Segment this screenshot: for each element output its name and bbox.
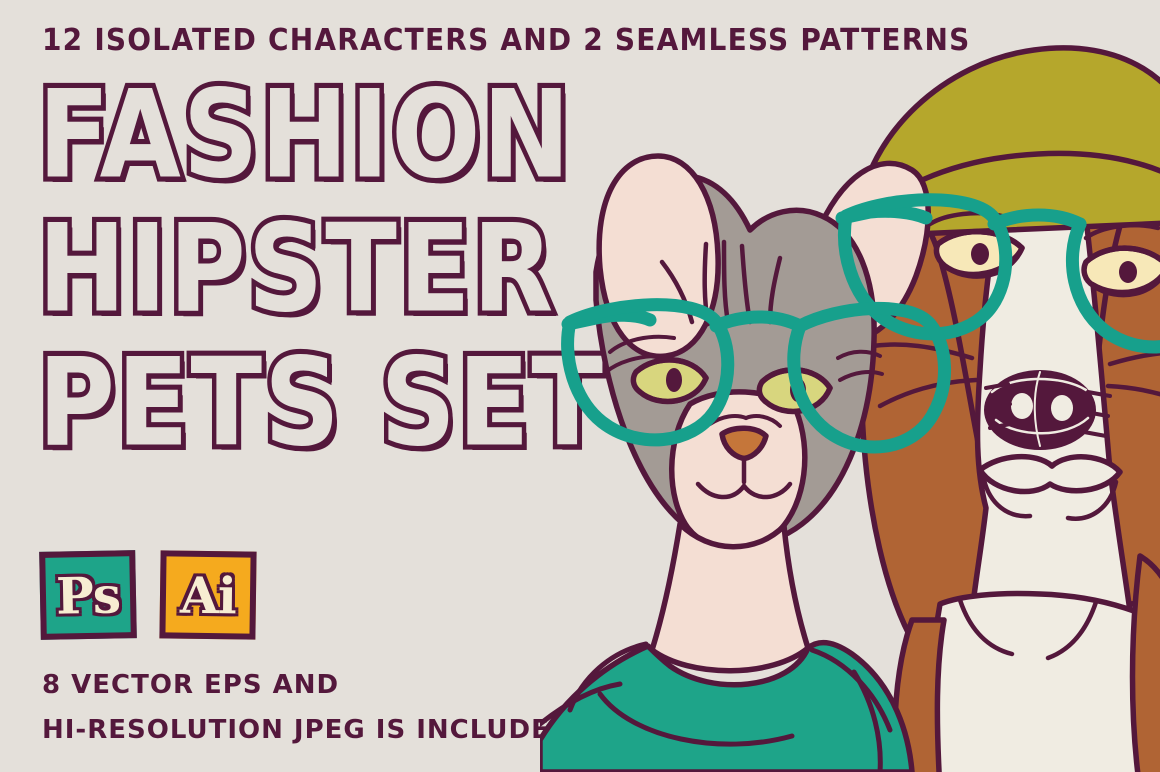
illustrator-badge-label: Ai — [180, 565, 237, 625]
cat-neck — [652, 524, 808, 671]
dog-shoulder-right — [1133, 556, 1160, 772]
photoshop-badge-label: Ps — [56, 565, 121, 625]
dog-lips — [980, 457, 1120, 492]
headline-line-2: HIPSTER — [38, 210, 573, 328]
footnotes-block: 8 VECTOR EPS AND HI-RESOLUTION JPEG IS I… — [42, 663, 572, 752]
headline-block: FASHION HIPSTER PETS SET — [38, 76, 578, 464]
dog-eye-right — [1084, 248, 1160, 294]
dog-nose — [984, 370, 1096, 450]
footnote-line-2: HI-RESOLUTION JPEG IS INCLUDED — [42, 708, 572, 753]
photoshop-badge: Ps — [39, 550, 137, 640]
illustrator-badge: Ai — [159, 550, 256, 639]
cat-ear-left — [599, 156, 718, 356]
headline-line-3: PETS SET — [38, 344, 573, 462]
hipster-pets-illustration — [540, 0, 1160, 772]
headline-line-1: FASHION — [38, 76, 573, 194]
software-badges: Ps Ai — [40, 551, 256, 639]
poster-canvas: 12 ISOLATED CHARACTERS AND 2 SEAMLESS PA… — [0, 0, 1160, 772]
dog-character — [831, 48, 1160, 772]
footnote-line-1: 8 VECTOR EPS AND — [42, 663, 572, 708]
dog-chest — [928, 593, 1160, 772]
